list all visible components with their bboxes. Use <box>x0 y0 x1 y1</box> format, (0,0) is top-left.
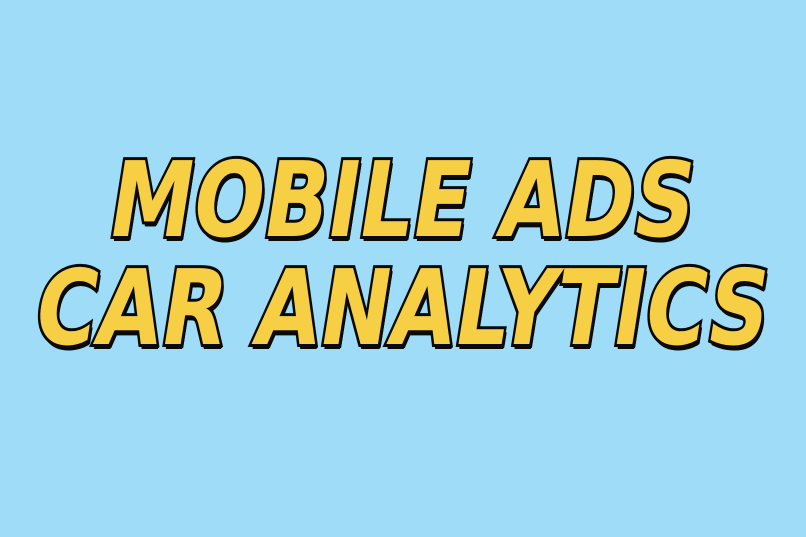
headline-line-1: MOBILE ADS <box>103 153 702 249</box>
poster-canvas: MOBILE ADS CAR ANALYTICS <box>0 0 806 537</box>
headline-block: MOBILE ADS CAR ANALYTICS <box>0 153 806 356</box>
headline-line-2: CAR ANALYTICS <box>29 261 777 357</box>
